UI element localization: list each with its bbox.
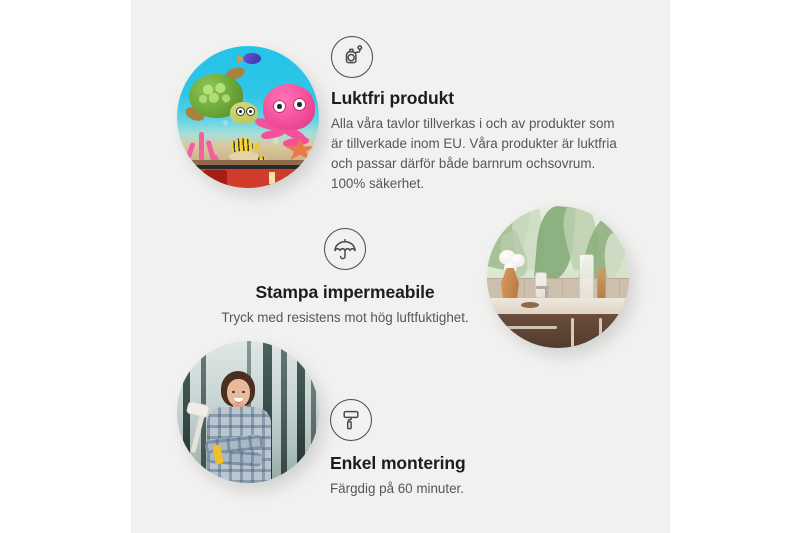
feature-title: Luktfri produkt <box>331 88 621 108</box>
feature-description: Alla våra tavlor tillverkas i och av pro… <box>331 114 621 194</box>
forest-tree <box>311 341 316 483</box>
cabinet-handle <box>571 318 574 348</box>
feature-title: Enkel montering <box>330 453 580 473</box>
no-perfume-icon <box>331 36 373 78</box>
forest-tree <box>281 341 287 483</box>
soap-dish <box>521 302 539 308</box>
toiletry-bottle <box>579 254 594 300</box>
feature-description: Färgdig på 60 minuter. <box>330 479 580 499</box>
feature-block-waterproof: Stampa impermeabile Tryck med resistens … <box>205 228 485 328</box>
octopus-head <box>263 84 315 130</box>
toiletry-bottle <box>597 268 606 300</box>
sea-turtle-head <box>230 102 258 124</box>
turtle-eye <box>246 107 255 116</box>
feature-block-odour-free: Luktfri produkt Alla våra tavlor tillver… <box>331 36 621 195</box>
feature-image-odour-free <box>177 46 319 188</box>
person-eye <box>232 391 235 393</box>
vanity-cabinet <box>487 314 629 348</box>
turtle-eye <box>236 107 245 116</box>
person-eye <box>242 391 245 393</box>
feature-image-waterproof <box>487 206 629 348</box>
blue-fish <box>243 53 261 64</box>
umbrella-icon <box>324 228 366 270</box>
product-feature-infographic: Luktfri produkt Alla våra tavlor tillver… <box>0 0 800 533</box>
paint-roller-icon <box>330 399 372 441</box>
feature-description: Tryck med resistens mot hög luftfuktighe… <box>205 308 485 328</box>
octopus-tentacle <box>283 136 310 148</box>
forest-tree <box>297 341 305 483</box>
cabinet-handle <box>599 318 602 348</box>
bubble <box>273 138 279 144</box>
octopus-eye <box>293 98 306 111</box>
mural-frame-edge <box>177 160 319 188</box>
octopus-eye <box>273 100 286 113</box>
feature-block-easy-mounting: Enkel montering Färgdig på 60 minuter. <box>330 399 580 499</box>
feature-title: Stampa impermeabile <box>205 282 485 302</box>
feature-image-easy-mounting <box>177 341 319 483</box>
bubble <box>223 120 228 125</box>
